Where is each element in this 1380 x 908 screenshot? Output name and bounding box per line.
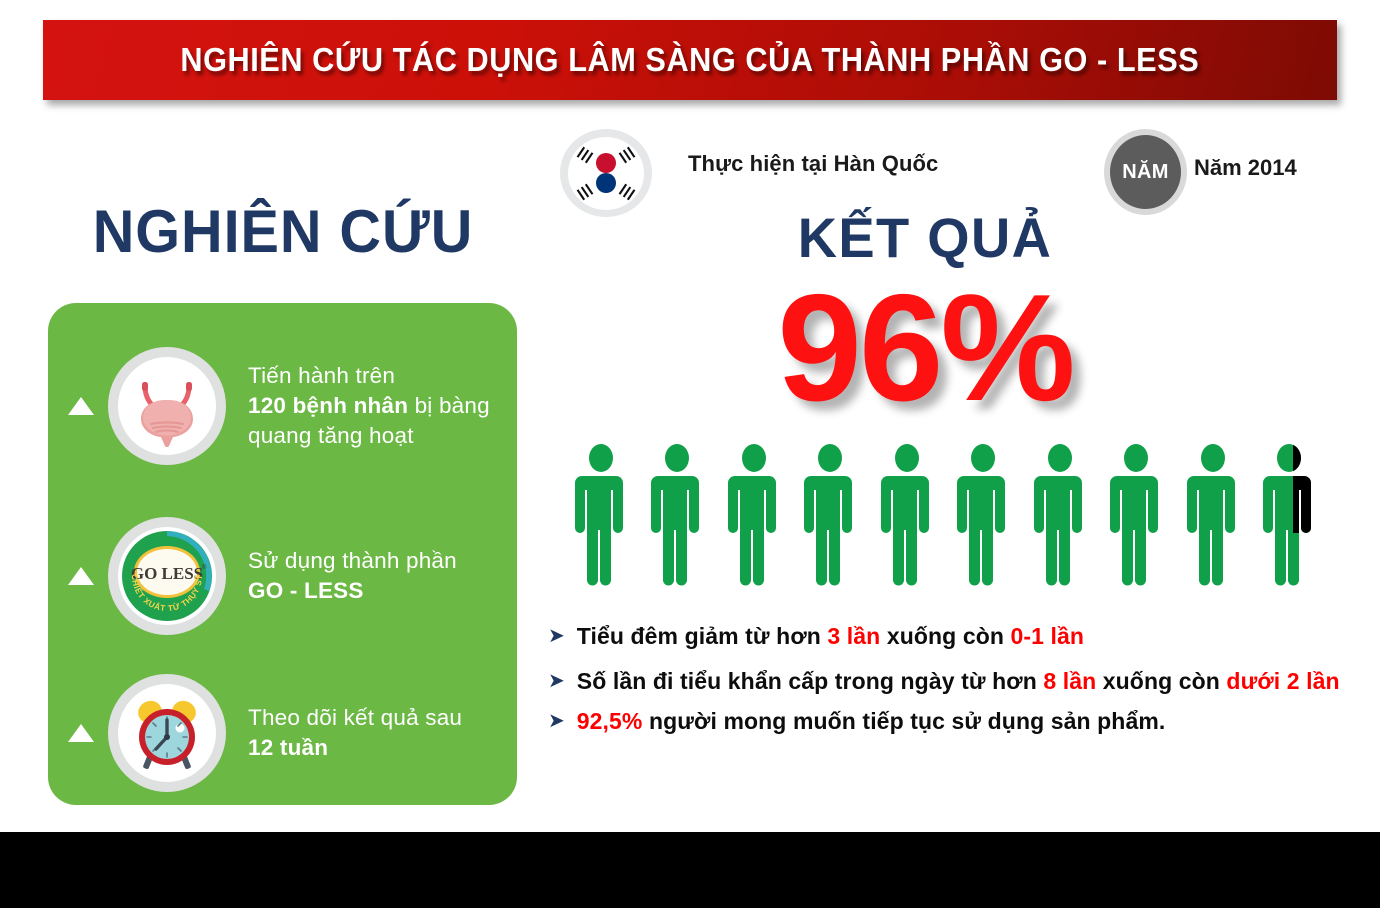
- arrow-right-icon: ➤: [548, 709, 565, 735]
- person-icon: [801, 443, 859, 588]
- bullet-text: Tiểu đêm giảm từ hơn 3 lần xuống còn 0-1…: [577, 622, 1084, 651]
- bullet-item: ➤ Số lần đi tiểu khẩn cấp trong ngày từ …: [548, 667, 1348, 696]
- korea-flag-glyph: [568, 137, 644, 210]
- year-label: Năm 2014: [1194, 155, 1297, 181]
- study-item-text: Tiến hành trên 120 bệnh nhân bị bàng qua…: [248, 361, 490, 451]
- bottom-bar: [0, 832, 1380, 908]
- alarm-clock-icon: [108, 674, 226, 792]
- research-heading: NGHIÊN CỨU: [57, 197, 508, 266]
- study-item-text: Theo dõi kết quả sau 12 tuần: [248, 703, 462, 763]
- title-banner: NGHIÊN CỨU TÁC DỤNG LÂM SÀNG CỦA THÀNH P…: [43, 20, 1337, 100]
- study-highlight: 120 bệnh nhân: [248, 393, 408, 418]
- bullet-part-highlight: 92,5%: [577, 708, 643, 734]
- study-line-1: Sử dụng thành phần: [248, 548, 457, 573]
- bullet-part: xuống còn: [880, 623, 1010, 649]
- korea-flag-icon: [560, 129, 652, 217]
- triangle-marker-icon: [68, 397, 94, 415]
- person-icon: [572, 443, 630, 588]
- study-line-2-rest: bị bàng: [408, 393, 490, 418]
- bullet-part-highlight: 0-1 lần: [1011, 623, 1085, 649]
- svg-text:®: ®: [202, 564, 207, 571]
- study-item-patients: Tiến hành trên 120 bệnh nhân bị bàng qua…: [48, 331, 517, 481]
- study-line-1: Theo dõi kết quả sau: [248, 705, 462, 730]
- bullet-text: 92,5% người mong muốn tiếp tục sử dụng s…: [577, 707, 1166, 736]
- bullet-part-highlight: dưới 2 lần: [1226, 668, 1339, 694]
- go-less-wordmark: GO LESS: [131, 564, 203, 583]
- arrow-right-icon: ➤: [548, 624, 565, 650]
- person-icon: [1031, 443, 1089, 588]
- bladder-icon: [108, 347, 226, 465]
- study-item-ingredient: GO LESS ® CHIẾT XUẤT TỪ THỤY SỸ Sử dụng …: [48, 501, 517, 651]
- study-line-3: quang tăng hoạt: [248, 423, 414, 448]
- study-item-text: Sử dụng thành phần GO - LESS: [248, 546, 457, 606]
- people-pictogram: [572, 443, 1318, 588]
- country-label: Thực hiện tại Hàn Quốc: [688, 151, 938, 177]
- person-icon: [1184, 443, 1242, 588]
- bullet-item: ➤ Tiểu đêm giảm từ hơn 3 lần xuống còn 0…: [548, 622, 1348, 651]
- research-panel: Tiến hành trên 120 bệnh nhân bị bàng qua…: [48, 303, 517, 805]
- person-icon: [1107, 443, 1165, 588]
- results-bullet-list: ➤ Tiểu đêm giảm từ hơn 3 lần xuống còn 0…: [548, 622, 1348, 736]
- arrow-right-icon: ➤: [548, 669, 565, 695]
- bladder-glyph: [123, 362, 211, 450]
- result-percent: 96%: [700, 272, 1150, 424]
- person-icon: [725, 443, 783, 588]
- person-icon: [648, 443, 706, 588]
- study-item-duration: Theo dõi kết quả sau 12 tuần: [48, 658, 517, 808]
- page-title: NGHIÊN CỨU TÁC DỤNG LÂM SÀNG CỦA THÀNH P…: [181, 41, 1200, 79]
- year-badge-text: NĂM: [1110, 135, 1181, 209]
- study-highlight: GO - LESS: [248, 578, 364, 603]
- result-heading: KẾT QUẢ: [707, 205, 1144, 270]
- person-icon-partial: [1260, 443, 1318, 588]
- triangle-marker-icon: [68, 724, 94, 742]
- person-icon: [954, 443, 1012, 588]
- go-less-logo-icon: GO LESS ® CHIẾT XUẤT TỪ THỤY SỸ: [108, 517, 226, 635]
- alarm-clock-glyph: [123, 689, 211, 777]
- bullet-item: ➤ 92,5% người mong muốn tiếp tục sử dụng…: [548, 707, 1348, 736]
- bullet-part: người mong muốn tiếp tục sử dụng sản phẩ…: [642, 708, 1165, 734]
- go-less-logo-glyph: GO LESS ® CHIẾT XUẤT TỪ THỤY SỸ: [118, 527, 216, 625]
- bullet-part: Tiểu đêm giảm từ hơn: [577, 623, 828, 649]
- triangle-marker-icon: [68, 567, 94, 585]
- bullet-text: Số lần đi tiểu khẩn cấp trong ngày từ hơ…: [577, 667, 1340, 696]
- bullet-part-highlight: 3 lần: [827, 623, 880, 649]
- year-badge-icon: NĂM: [1104, 129, 1187, 215]
- study-line-1: Tiến hành trên: [248, 363, 395, 388]
- bullet-part-highlight: 8 lần: [1043, 668, 1096, 694]
- bullet-part: xuống còn: [1096, 668, 1226, 694]
- person-icon: [878, 443, 936, 588]
- study-highlight: 12 tuần: [248, 735, 328, 760]
- bullet-part: Số lần đi tiểu khẩn cấp trong ngày từ hơ…: [577, 668, 1044, 694]
